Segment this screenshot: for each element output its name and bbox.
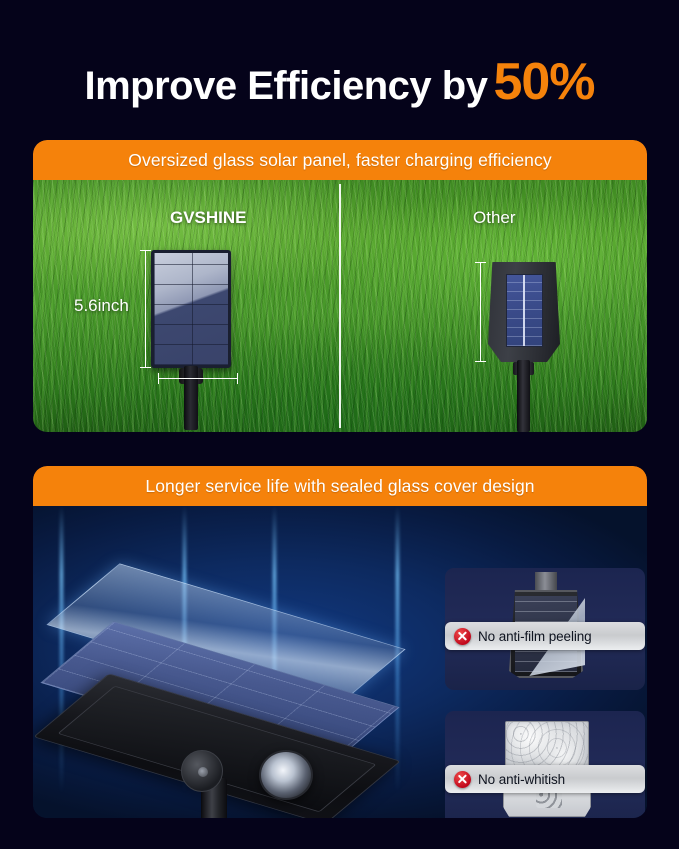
- gvshine-panel-grid: [154, 253, 228, 365]
- sealed-glass-card: Longer service life with sealed glass co…: [33, 466, 647, 818]
- light-streak: [60, 506, 63, 818]
- oversized-panel-banner: Oversized glass solar panel, faster char…: [33, 140, 647, 180]
- brand-label-gvshine: GVSHINE: [170, 208, 247, 228]
- sealed-glass-banner: Longer service life with sealed glass co…: [33, 466, 647, 506]
- caption-no-anti-film-peeling: No anti-film peeling: [445, 622, 645, 650]
- gvshine-solar-panel: [151, 250, 231, 368]
- sealed-glass-banner-text: Longer service life with sealed glass co…: [145, 476, 534, 497]
- other-panel-grid: [507, 275, 542, 346]
- other-solar-lamp: [488, 262, 560, 432]
- gvshine-height-rule: [145, 250, 146, 368]
- exploded-lamp-diagram: [73, 568, 403, 818]
- caption-text: No anti-whitish: [478, 772, 565, 787]
- red-x-icon: [454, 771, 471, 788]
- gvshine-width-rule: [158, 378, 238, 379]
- lamp-head-lens: [259, 750, 313, 800]
- caption-text: No anti-film peeling: [478, 629, 592, 644]
- oversized-panel-card: Oversized glass solar panel, faster char…: [33, 140, 647, 432]
- comparison-divider: [339, 184, 341, 428]
- brand-label-other: Other: [473, 208, 516, 228]
- peel-lamp-pole: [535, 572, 557, 592]
- page-title-accent: 50%: [493, 53, 594, 111]
- other-solar-panel: [506, 274, 543, 347]
- gvshine-stake: [184, 366, 198, 430]
- hinge-knob: [181, 750, 223, 792]
- other-stake: [517, 360, 530, 432]
- caption-no-anti-whitish: No anti-whitish: [445, 765, 645, 793]
- gvshine-solar-lamp: [151, 250, 231, 430]
- other-height-rule: [480, 262, 481, 362]
- page-title: Improve Efficiency by50%: [0, 52, 679, 112]
- gvshine-height-label: 5.6inch: [74, 296, 129, 316]
- oversized-panel-banner-text: Oversized glass solar panel, faster char…: [128, 150, 551, 171]
- red-x-icon: [454, 628, 471, 645]
- page-title-main: Improve Efficiency by: [84, 64, 487, 108]
